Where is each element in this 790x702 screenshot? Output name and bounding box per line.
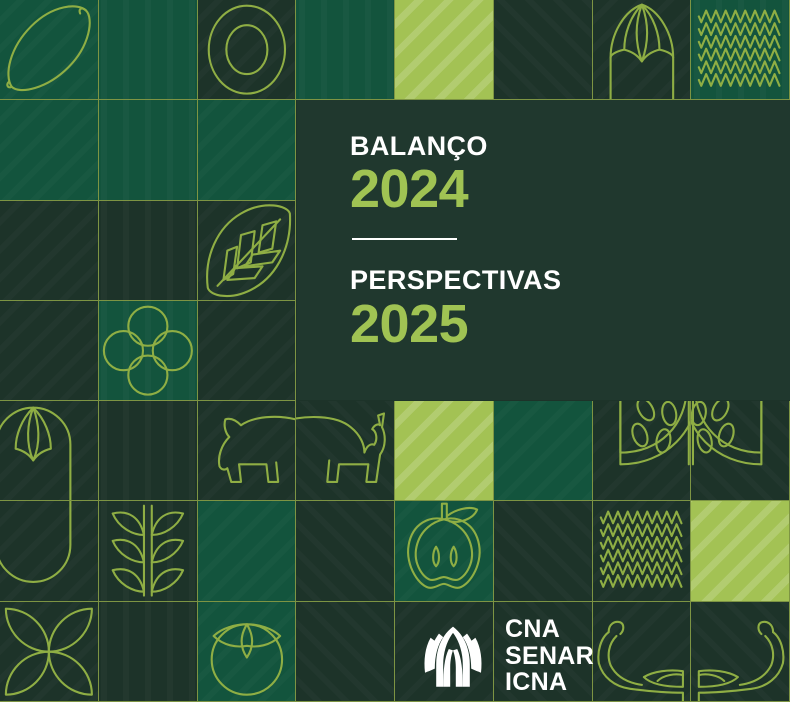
grid-tile-4-2-grapes bbox=[99, 301, 198, 401]
tile-texture bbox=[494, 0, 593, 100]
grid-tile-6-6 bbox=[494, 501, 593, 601]
tile-texture bbox=[99, 602, 198, 702]
leaf-icon bbox=[198, 201, 296, 300]
tile-texture bbox=[99, 401, 198, 501]
tile-texture bbox=[395, 401, 494, 501]
cna-senar-icna-logo: CNA SENAR ICNA bbox=[418, 616, 594, 696]
cow-right-icon bbox=[691, 602, 789, 701]
grid-tile-2-2 bbox=[99, 100, 198, 200]
title-divider bbox=[352, 238, 457, 240]
grid-tile-6-1-eggplant-bottom bbox=[0, 501, 99, 601]
grid-tile-6-2-branch bbox=[99, 501, 198, 601]
tile-texture bbox=[0, 100, 99, 200]
grid-tile-7-1-flower bbox=[0, 602, 99, 702]
title-panel: BALANÇO 2024 PERSPECTIVAS 2025 bbox=[297, 100, 790, 400]
zigzag-icon bbox=[593, 501, 691, 600]
pig-right-icon bbox=[296, 401, 394, 500]
zigzag-icon bbox=[691, 0, 789, 99]
logo-line-icna: ICNA bbox=[505, 669, 594, 696]
tile-texture bbox=[494, 401, 593, 501]
grid-tile-1-4 bbox=[296, 0, 395, 100]
grid-tile-5-4-pig-right bbox=[296, 401, 395, 501]
tile-texture bbox=[198, 100, 297, 200]
grid-tile-4-1 bbox=[0, 301, 99, 401]
orange-slice-icon bbox=[198, 0, 296, 99]
tile-texture bbox=[99, 201, 198, 301]
year-2025: 2025 bbox=[350, 297, 770, 351]
grid-tile-7-7-cow-left bbox=[593, 602, 692, 702]
logo-line-cna: CNA bbox=[505, 616, 594, 643]
flower-icon bbox=[0, 602, 98, 701]
cow-left-icon bbox=[593, 602, 691, 701]
tile-texture bbox=[395, 0, 494, 100]
eggplant-bottom-icon bbox=[0, 501, 98, 600]
grid-tile-5-7-melon-left bbox=[593, 401, 692, 501]
grid-tile-7-4 bbox=[296, 602, 395, 702]
tile-texture bbox=[296, 501, 395, 601]
grapes-icon bbox=[99, 301, 197, 400]
grid-tile-6-5-apple bbox=[395, 501, 494, 601]
grid-tile-6-3 bbox=[198, 501, 297, 601]
grid-tile-7-3-persimmon bbox=[198, 602, 297, 702]
kicker-perspectivas: PERSPECTIVAS bbox=[350, 266, 770, 294]
kicker-balanco: BALANÇO bbox=[350, 132, 770, 160]
pig-left-icon bbox=[198, 401, 296, 500]
cna-woven-wheat-mark-icon bbox=[418, 621, 488, 691]
grid-tile-2-3 bbox=[198, 100, 297, 200]
tile-texture bbox=[494, 501, 593, 601]
grid-tile-6-4 bbox=[296, 501, 395, 601]
tile-texture bbox=[99, 100, 198, 200]
tile-texture bbox=[0, 201, 99, 301]
grid-tile-1-7-corn bbox=[593, 0, 692, 100]
grid-tile-2-1 bbox=[0, 100, 99, 200]
lemon-icon bbox=[0, 0, 98, 99]
grid-tile-5-2 bbox=[99, 401, 198, 501]
tile-texture bbox=[0, 301, 99, 401]
tile-texture bbox=[198, 501, 297, 601]
apple-icon bbox=[395, 501, 493, 600]
grid-tile-6-8 bbox=[691, 501, 790, 601]
corn-icon bbox=[593, 0, 691, 99]
melon-right-icon bbox=[691, 401, 789, 500]
tile-texture bbox=[691, 501, 790, 601]
grid-tile-1-1-lemon bbox=[0, 0, 99, 100]
tile-texture bbox=[296, 0, 395, 100]
grid-tile-5-3-pig-left bbox=[198, 401, 297, 501]
logo-wordmark: CNA SENAR ICNA bbox=[505, 616, 594, 696]
grid-tile-1-5 bbox=[395, 0, 494, 100]
grid-tile-1-2 bbox=[99, 0, 198, 100]
grid-tile-3-2 bbox=[99, 201, 198, 301]
eggplant-top-icon bbox=[0, 401, 98, 500]
persimmon-icon bbox=[198, 602, 296, 701]
grid-tile-5-8-melon-right bbox=[691, 401, 790, 501]
grid-tile-1-8-zigzag bbox=[691, 0, 790, 100]
grid-tile-5-5 bbox=[395, 401, 494, 501]
grid-tile-3-3-leaf bbox=[198, 201, 297, 301]
branch-icon bbox=[99, 501, 197, 600]
year-2024: 2024 bbox=[350, 162, 770, 216]
report-cover: BALANÇO 2024 PERSPECTIVAS 2025 CN bbox=[0, 0, 790, 702]
logo-line-senar: SENAR bbox=[505, 643, 594, 670]
tile-texture bbox=[198, 301, 297, 401]
grid-tile-1-3-orange-slice bbox=[198, 0, 297, 100]
grid-tile-4-3 bbox=[198, 301, 297, 401]
tile-texture bbox=[99, 0, 198, 100]
grid-tile-5-6 bbox=[494, 401, 593, 501]
grid-tile-3-1 bbox=[0, 201, 99, 301]
grid-tile-7-2 bbox=[99, 602, 198, 702]
grid-tile-7-8-cow-right bbox=[691, 602, 790, 702]
grid-tile-5-1-eggplant-top bbox=[0, 401, 99, 501]
grid-tile-1-6 bbox=[494, 0, 593, 100]
melon-left-icon bbox=[593, 401, 691, 500]
grid-tile-6-7-zigzag bbox=[593, 501, 692, 601]
tile-texture bbox=[296, 602, 395, 702]
